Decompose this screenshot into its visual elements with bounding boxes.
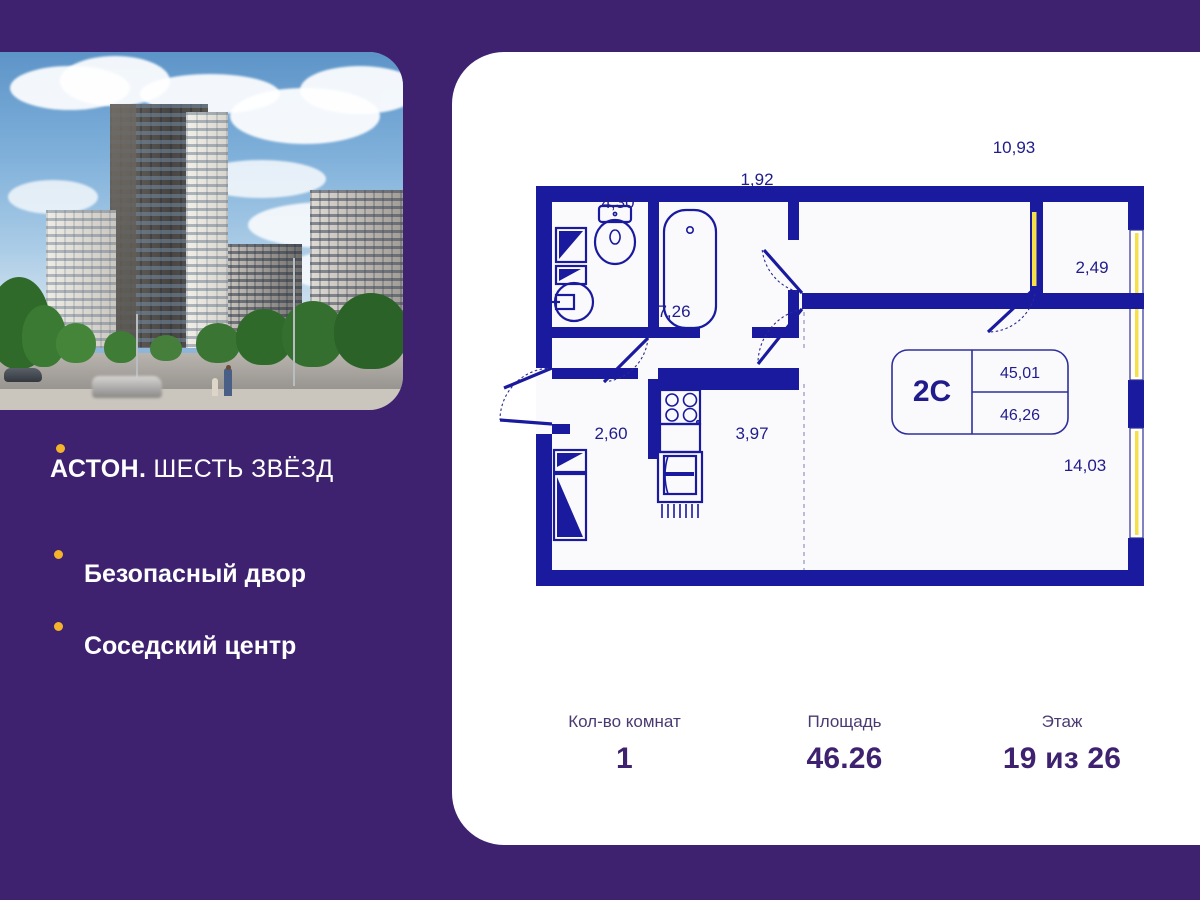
area-label-living: 10,93: [993, 138, 1036, 157]
stat-label: Этаж: [952, 712, 1172, 732]
feature-item-0: Безопасный двор: [50, 560, 306, 589]
area-label-wc: 1,92: [740, 170, 773, 189]
area-value: 4,30: [601, 193, 634, 212]
area-value: 1,92: [740, 170, 773, 189]
tree: [104, 331, 138, 363]
feature-label: Безопасный двор: [84, 560, 306, 589]
floorplan-card: .wall{fill:#1A1A9E;} .fix{fill:none;stro…: [452, 52, 1200, 845]
feature-label: Соседский центр: [84, 632, 296, 661]
stat-value: 19 из 26: [952, 742, 1172, 776]
tree: [150, 335, 182, 361]
person-adult: [224, 368, 232, 396]
stat-area: Площадь 46.26: [737, 712, 952, 776]
tree: [334, 293, 403, 369]
stat-value: 46.26: [737, 742, 952, 776]
tree: [56, 323, 96, 363]
area-value: 10,93: [993, 138, 1036, 157]
svg-text:46,26: 46,26: [1000, 407, 1040, 424]
lamp-post: [293, 258, 295, 386]
area-label-kitchen: 3,97: [735, 424, 768, 443]
complex-photo: [0, 52, 403, 410]
badge-living-area: 45,01: [1000, 365, 1040, 382]
feature-item-1: Соседский центр: [50, 632, 296, 661]
area-label-hallway: 7,26: [657, 302, 690, 321]
brand-logo: АСТОН. ШЕСТЬ ЗВЁЗД: [50, 455, 334, 484]
treeline: [0, 292, 403, 364]
floorplan-drawing: .wall{fill:#1A1A9E;} .fix{fill:none;stro…: [452, 52, 1200, 692]
badge-type-value: 2С: [913, 375, 951, 408]
stat-floor: Этаж 19 из 26: [952, 712, 1172, 776]
area-value: 2,49: [1075, 258, 1108, 277]
area-value: 2,60: [594, 424, 627, 443]
area-label-balcony: 2,49: [1075, 258, 1108, 277]
stat-rooms: Кол-во комнат 1: [512, 712, 737, 776]
cloud: [8, 180, 98, 214]
sidewalk: [0, 389, 403, 410]
brand-name-light: ШЕСТЬ ЗВЁЗД: [146, 455, 334, 483]
person-child: [212, 378, 218, 396]
area-value: 14,03: [1064, 456, 1107, 475]
brand-separator: .: [139, 455, 146, 483]
area-label-bathroom: 4,30: [601, 193, 634, 212]
car-moving: [92, 376, 162, 398]
car-parked: [4, 368, 42, 382]
area-value: 3,97: [735, 424, 768, 443]
area-value: 7,26: [657, 302, 690, 321]
left-promo-panel: АСТОН. ШЕСТЬ ЗВЁЗД Безопасный двор Сосед…: [0, 0, 440, 900]
svg-text:45,01: 45,01: [1000, 365, 1040, 382]
stat-label: Кол-во комнат: [512, 712, 737, 732]
tree: [196, 323, 240, 363]
area-label-bedroom: 14,03: [1064, 456, 1107, 475]
bullet-dot-icon: [54, 550, 63, 559]
person-adult-head: [226, 365, 231, 370]
stats-row: Кол-во комнат 1 Площадь 46.26 Этаж 19 из…: [512, 712, 1172, 776]
area-label-wardrobe: 2,60: [594, 424, 627, 443]
window-lower: [1130, 428, 1143, 538]
badge-total-area: 46,26: [1000, 407, 1040, 424]
stat-value: 1: [512, 742, 737, 776]
brand-name-strong: АСТОН: [50, 455, 139, 483]
svg-text:2С: 2С: [913, 375, 951, 408]
brand-accent-dot: [56, 444, 65, 453]
stat-label: Площадь: [737, 712, 952, 732]
bullet-dot-icon: [54, 622, 63, 631]
